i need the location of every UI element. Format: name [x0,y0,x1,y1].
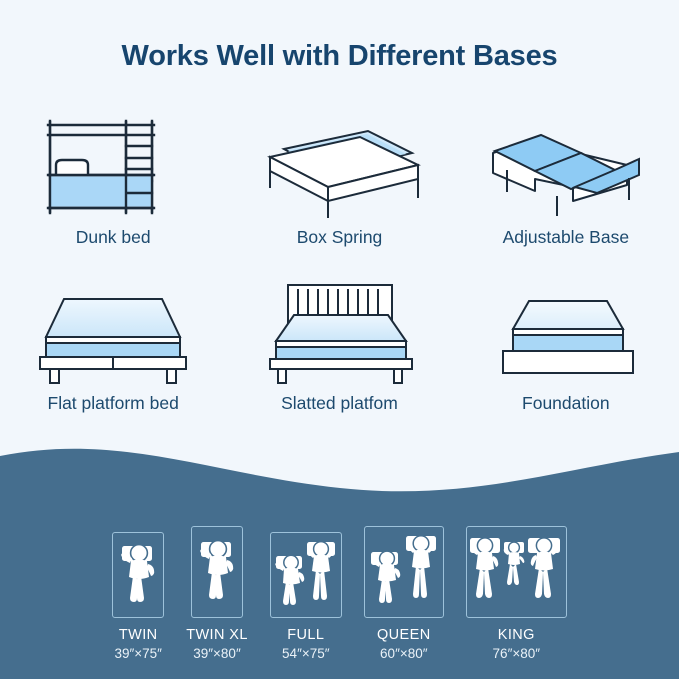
size-name: TWIN [119,627,158,643]
base-item-bunk-bed: Dunk bed [0,100,226,248]
sleeper-figure-trio [468,528,565,616]
flat-platform-bed-icon [28,279,198,387]
slatted-platform-icon [254,279,424,387]
size-box [364,526,444,618]
foundation-icon [481,279,651,387]
size-box [270,532,342,618]
size-list: TWIN 39″×75″ [0,526,679,661]
size-item-twin-xl: TWIN XL 39″×80″ [186,526,248,661]
base-label: Box Spring [297,227,383,248]
size-name: KING [498,627,535,643]
size-dimensions: 39″×75″ [114,646,161,661]
size-chart-panel: TWIN 39″×75″ [0,434,679,679]
size-box [112,532,164,618]
size-dimensions: 39″×80″ [193,646,240,661]
size-name: QUEEN [377,627,431,643]
base-item-flat-platform-bed: Flat platform bed [0,266,226,414]
box-spring-icon [250,113,428,221]
page-title: Works Well with Different Bases [0,40,679,73]
base-label: Flat platform bed [48,393,179,414]
infographic-page: Works Well with Different Bases [0,0,679,679]
base-label: Adjustable Base [503,227,629,248]
size-dimensions: 60″×80″ [380,646,427,661]
sleeper-figure-pair [272,534,340,616]
base-item-box-spring: Box Spring [226,100,452,248]
size-item-twin: TWIN 39″×75″ [112,532,164,661]
base-item-foundation: Foundation [453,266,679,414]
sleeper-figure-pair [366,528,442,616]
size-dimensions: 54″×75″ [282,646,329,661]
size-item-queen: QUEEN 60″×80″ [364,526,444,661]
size-box [466,526,567,618]
size-item-full: FULL 54″×75″ [270,532,342,661]
size-box [191,526,243,618]
base-label: Dunk bed [76,227,151,248]
adjustable-base-icon [477,113,655,221]
size-item-king: KING 76″×80″ [466,526,567,661]
bases-grid: Dunk bed [0,100,679,414]
bunk-bed-icon [38,113,188,221]
base-label: Foundation [522,393,610,414]
sleeper-figure-single [114,534,162,616]
base-item-adjustable-base: Adjustable Base [453,100,679,248]
base-label: Slatted platfom [281,393,398,414]
size-name: FULL [287,627,324,643]
base-item-slatted-platform: Slatted platfom [226,266,452,414]
size-dimensions: 76″×80″ [493,646,540,661]
size-name: TWIN XL [186,627,248,643]
sleeper-figure-single [193,528,241,616]
